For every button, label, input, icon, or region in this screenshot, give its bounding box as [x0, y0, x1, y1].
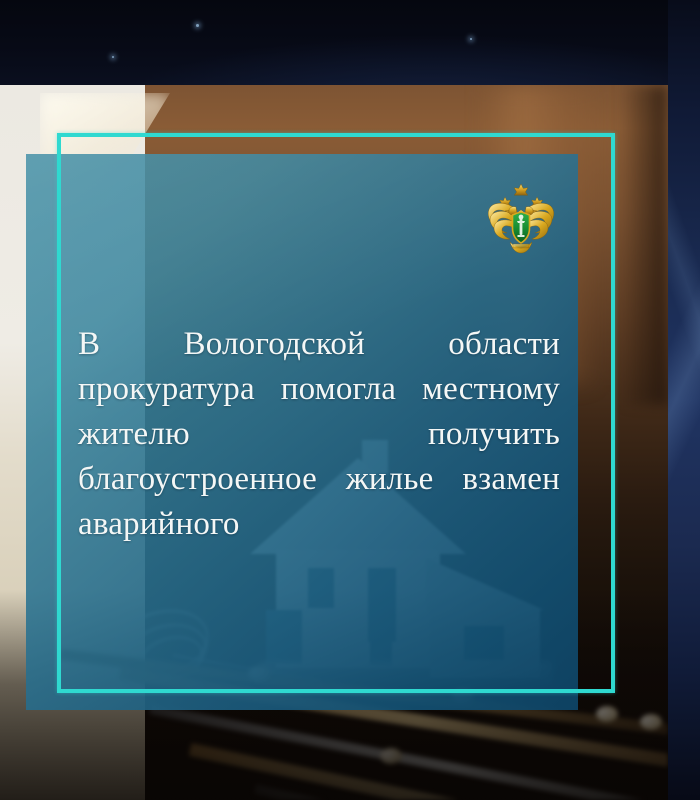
- right-navy-band: [668, 0, 700, 800]
- headline-text: В Вологодской области прокуратура помогл…: [78, 322, 560, 547]
- top-black-bar: [0, 0, 700, 85]
- prosecutor-general-office-emblem: [486, 180, 556, 258]
- desk-shadow-edge: [620, 85, 668, 405]
- social-card: В Вологодской области прокуратура помогл…: [0, 0, 700, 800]
